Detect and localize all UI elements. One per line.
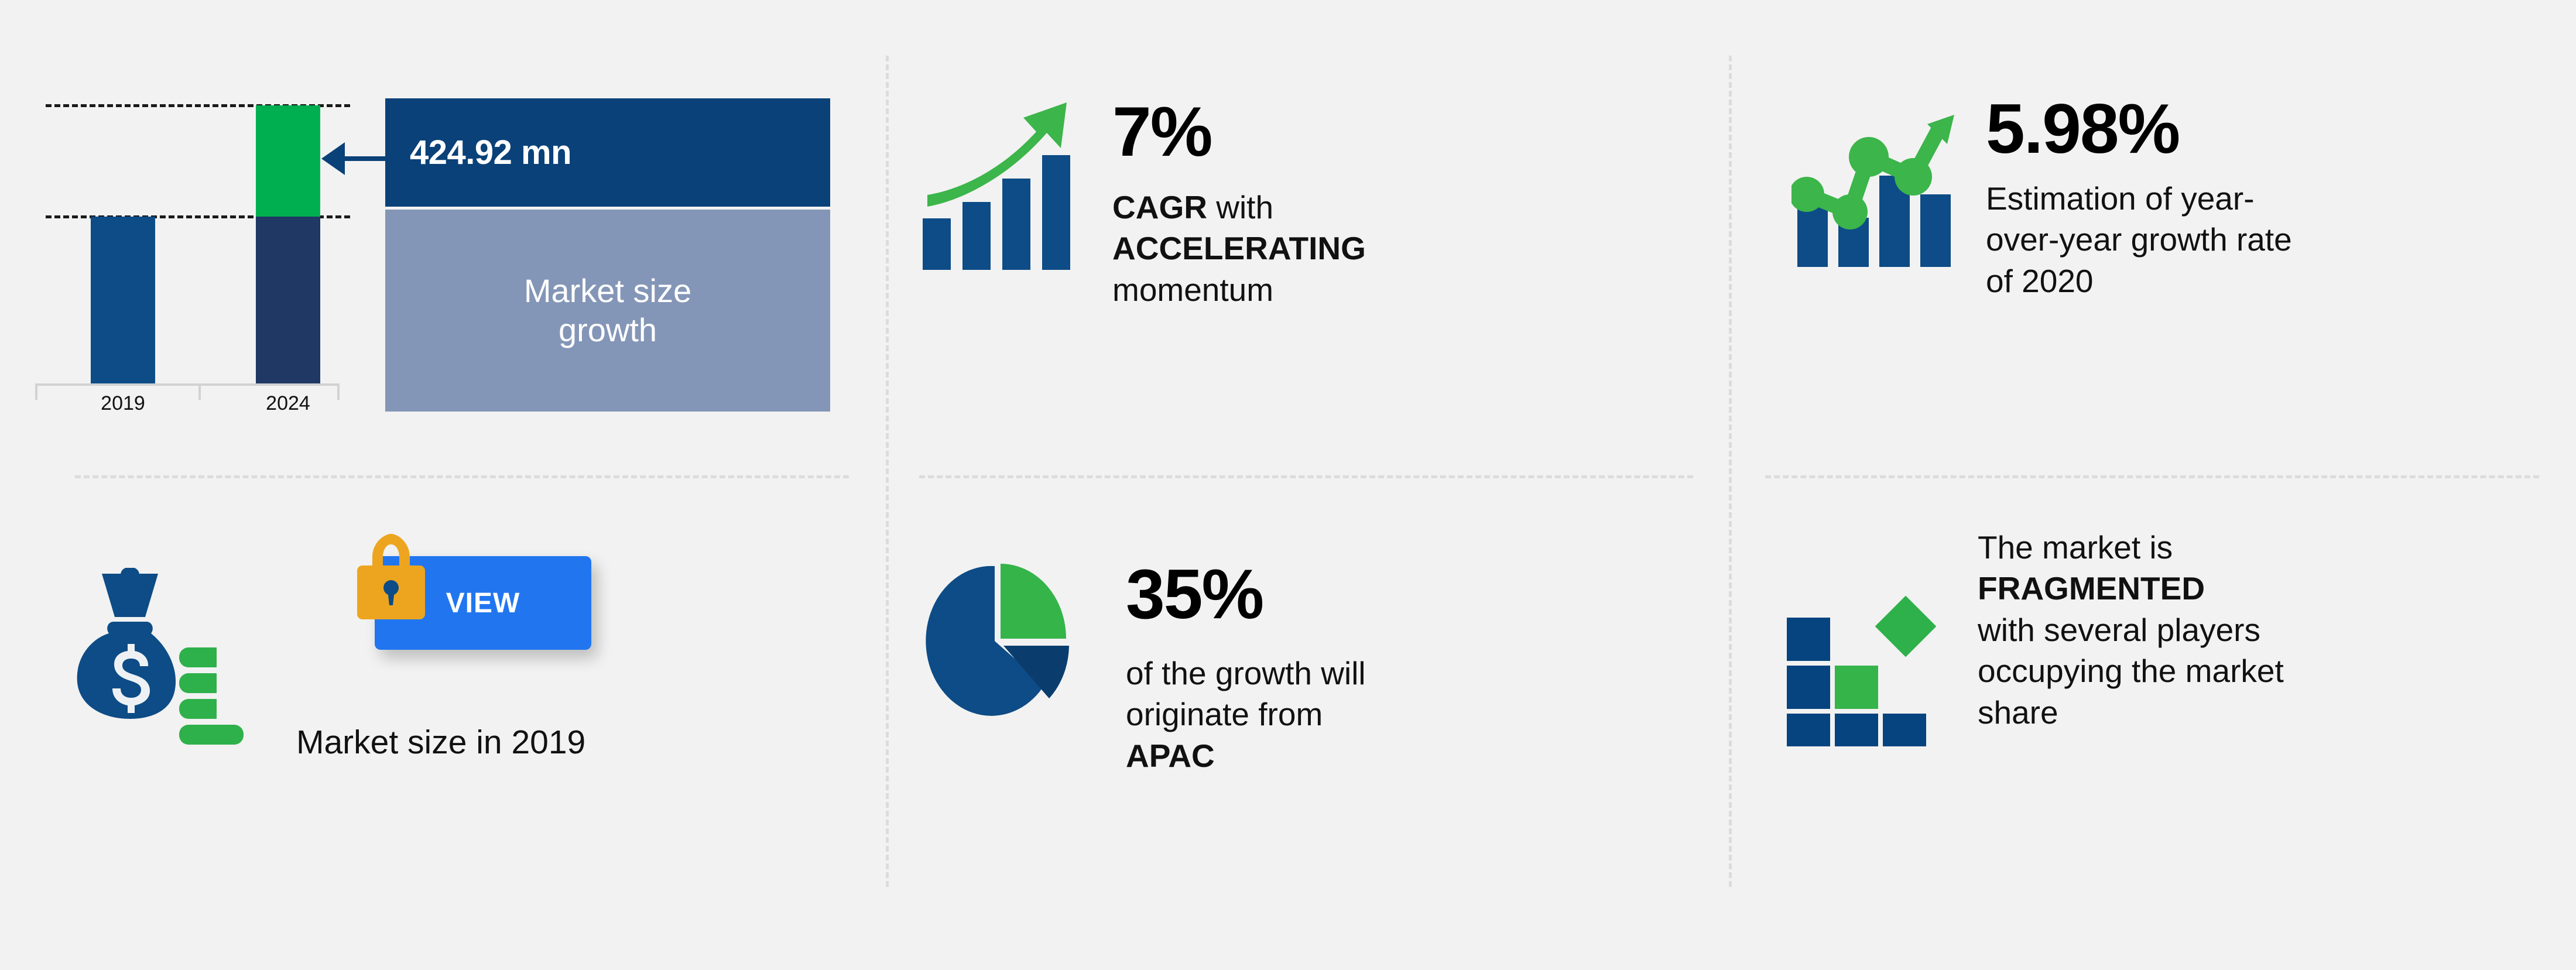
- apac-region-bold: APAC: [1126, 738, 1215, 774]
- cagr-accelerating-bold: ACCELERATING: [1112, 230, 1366, 266]
- axis-tick-label-2019: 2019: [76, 392, 170, 415]
- vertical-divider-right: [1729, 56, 1732, 887]
- horizontal-divider-col1: [75, 475, 849, 478]
- growth-arrow-bars-icon: [919, 97, 1077, 275]
- fragmentation-bold: FRAGMENTED: [1978, 570, 2205, 606]
- bar-2019: [91, 217, 155, 383]
- axis-baseline: [35, 383, 340, 386]
- fragmentation-line2: with several players: [1978, 612, 2260, 648]
- axis-tick-left: [35, 383, 37, 400]
- fragmentation-text-block: The market is FRAGMENTED with several pl…: [1978, 527, 2284, 733]
- cagr-stat-cell: 7% CAGR with ACCELERATING momentum: [919, 97, 1698, 310]
- callout-label-box: Market size growth: [385, 210, 830, 412]
- market-size-growth-chart-cell: 2019 2024 424.92 mn Market size growth: [0, 0, 878, 474]
- money-stack-bar-4: [179, 725, 244, 745]
- apac-description: of the growth will originate from APAC: [1126, 653, 1366, 776]
- fragmented-squares-icon: [1784, 594, 1937, 749]
- yoy-desc-line3: of 2020: [1986, 263, 2094, 299]
- callout-label-line1: Market size: [524, 272, 691, 309]
- fragmentation-line4: share: [1978, 694, 2058, 731]
- apac-stat-cell: 35% of the growth will originate from AP…: [924, 559, 1703, 776]
- market-size-caption: Market size in 2019: [296, 723, 585, 762]
- horizontal-divider-col2: [919, 475, 1693, 478]
- yoy-text-block: 5.98% Estimation of year- over-year grow…: [1986, 94, 2292, 301]
- axis-tick-label-2024: 2024: [241, 392, 335, 415]
- cagr-momentum: momentum: [1112, 272, 1273, 308]
- vertical-divider-left: [886, 56, 889, 887]
- market-size-2019-cell: VIEW Market size in 2019: [0, 486, 878, 896]
- horizontal-divider-col3: [1765, 475, 2539, 478]
- apac-desc-line1: of the growth will: [1126, 655, 1366, 691]
- callout-label-line2: growth: [559, 311, 657, 348]
- apac-value: 35%: [1126, 559, 1366, 629]
- yoy-desc-line1: Estimation of year-: [1986, 180, 2255, 217]
- bar-2024-base-segment: [256, 217, 320, 383]
- fragmentation-description: The market is FRAGMENTED with several pl…: [1978, 527, 2284, 733]
- axis-tick-mid: [198, 383, 201, 400]
- yoy-description: Estimation of year- over-year growth rat…: [1986, 178, 2292, 301]
- callout-value: 424.92 mn: [410, 133, 571, 172]
- fragmentation-line1: The market is: [1978, 529, 2173, 565]
- apac-desc-line2: originate from: [1126, 696, 1323, 732]
- callout-value-box: 424.92 mn: [385, 98, 830, 207]
- axis-tick-right: [337, 383, 340, 400]
- cagr-value: 7%: [1112, 97, 1366, 167]
- yoy-value: 5.98%: [1986, 94, 2292, 164]
- money-bag-icon: [64, 568, 217, 723]
- cagr-text-block: 7% CAGR with ACCELERATING momentum: [1112, 97, 1366, 310]
- callout-arrow-head: [321, 142, 345, 175]
- fragmentation-stat-cell: The market is FRAGMENTED with several pl…: [1784, 527, 2569, 749]
- line-chart-bars-icon: [1791, 94, 1955, 272]
- cagr-label-bold: CAGR: [1112, 189, 1207, 225]
- infographic-canvas: 2019 2024 424.92 mn Market size growth: [0, 0, 2576, 970]
- bar-2024-growth-segment: [256, 105, 320, 217]
- callout-label: Market size growth: [524, 272, 691, 349]
- yoy-stat-cell: 5.98% Estimation of year- over-year grow…: [1791, 94, 2570, 301]
- lock-icon: [351, 532, 430, 625]
- view-button-label: VIEW: [446, 587, 520, 619]
- cagr-description: CAGR with ACCELERATING momentum: [1112, 187, 1366, 310]
- pie-chart-icon: [924, 559, 1070, 726]
- fragmentation-line3: occupying the market: [1978, 653, 2284, 689]
- apac-text-block: 35% of the growth will originate from AP…: [1126, 559, 1366, 776]
- yoy-desc-line2: over-year growth rate: [1986, 221, 2292, 258]
- cagr-label-with: with: [1207, 189, 1273, 225]
